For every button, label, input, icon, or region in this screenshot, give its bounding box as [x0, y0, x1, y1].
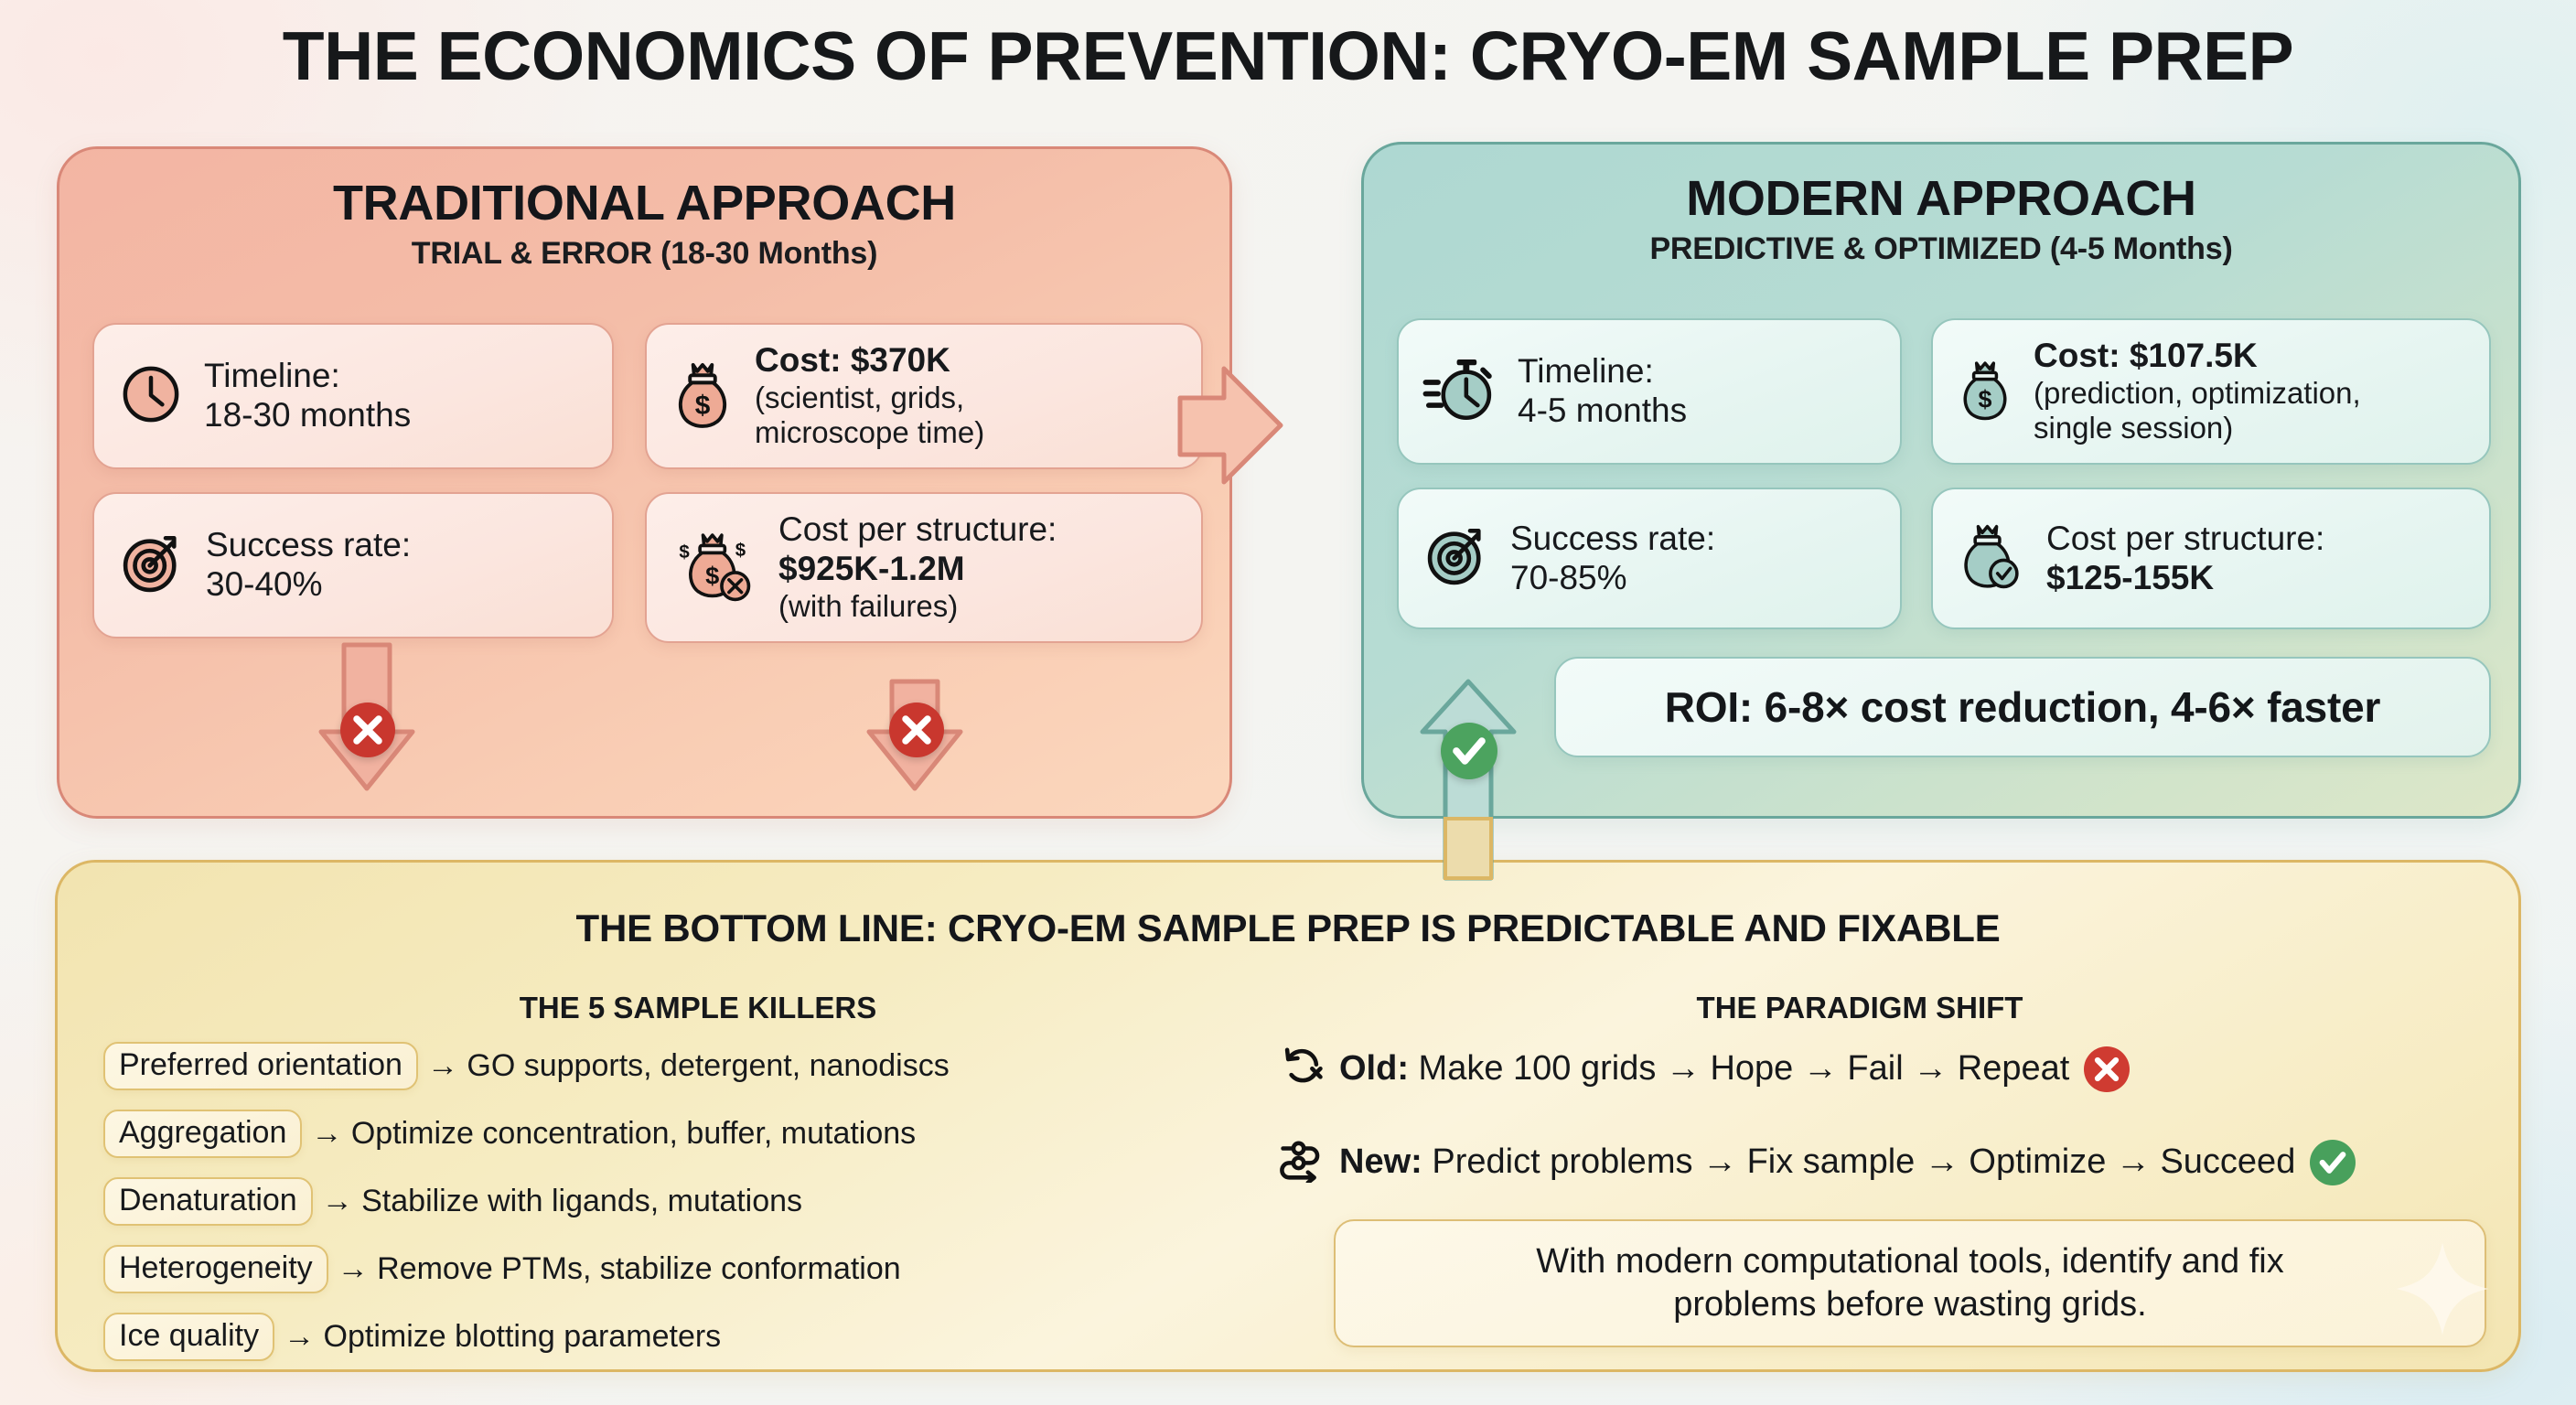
traditional-success-line2: 30-40%: [206, 565, 411, 605]
paradigm-column-heading: THE PARADIGM SHIFT: [1357, 991, 2363, 1025]
svg-text:$: $: [735, 541, 746, 561]
modern-cost-card: $ Cost: $107.5K (prediction, optimizatio…: [1931, 318, 2491, 465]
traditional-cps-line1: Cost per structure:: [778, 510, 1057, 550]
modern-cost-line3: single session): [2034, 411, 2361, 445]
svg-text:$: $: [1979, 385, 1992, 413]
modern-cps-text: Cost per structure: $125-155K: [2046, 520, 2324, 598]
killer-chip: Ice quality: [103, 1313, 274, 1361]
stopwatch-icon: [1422, 355, 1497, 429]
killer-row: Aggregation → Optimize concentration, bu…: [103, 1110, 916, 1158]
target-icon: [1422, 522, 1490, 595]
final-callout-text: With modern computational tools, identif…: [1536, 1240, 2283, 1327]
traditional-timeline-card: Timeline: 18-30 months: [92, 323, 614, 469]
svg-text:$: $: [679, 542, 690, 563]
roi-banner: ROI: 6-8× cost reduction, 4-6× faster: [1554, 657, 2491, 757]
killer-row: Denaturation → Stabilize with ligands, m…: [103, 1177, 802, 1226]
modern-cost-line1: Cost: $107.5K: [2034, 337, 2361, 376]
modern-panel-subheading: PREDICTIVE & OPTIMIZED (4-5 Months): [1364, 231, 2518, 267]
traditional-panel-subheading: TRIAL & ERROR (18-30 Months): [59, 236, 1229, 272]
sparkle-icon: [2392, 1239, 2493, 1344]
killer-chip: Preferred orientation: [103, 1042, 418, 1090]
killer-fix: → Stabilize with ligands, mutations: [322, 1184, 802, 1219]
traditional-cost-text: Cost: $370K (scientist, grids, microscop…: [755, 341, 984, 450]
svg-text:$: $: [695, 390, 711, 420]
modern-success-card: Success rate: 70-85%: [1397, 488, 1902, 629]
traditional-cost-line3: microscope time): [755, 415, 984, 450]
roi-text: ROI: 6-8× cost reduction, 4-6× faster: [1665, 682, 2381, 732]
paradigm-old-text: Old: Make 100 grids → Hope → Fail → Repe…: [1339, 1049, 2069, 1089]
modern-timeline-line1: Timeline:: [1518, 352, 1687, 391]
money-bag-icon: $: [671, 359, 735, 434]
svg-text:$: $: [705, 561, 719, 589]
traditional-cps-text: Cost per structure: $925K-1.2M (with fai…: [778, 510, 1057, 624]
modern-panel-heading: MODERN APPROACH: [1364, 170, 2518, 227]
traditional-timeline-line2: 18-30 months: [204, 396, 411, 435]
traditional-cost-line2: (scientist, grids,: [755, 381, 984, 415]
traditional-approach-panel: TRADITIONAL APPROACH TRIAL & ERROR (18-3…: [57, 146, 1232, 819]
traditional-success-line1: Success rate:: [206, 526, 411, 565]
traditional-cost-line1: Cost: $370K: [755, 341, 984, 381]
killer-row: Ice quality → Optimize blotting paramete…: [103, 1313, 721, 1361]
final-callout-box: With modern computational tools, identif…: [1334, 1219, 2486, 1347]
killer-fix: → Optimize blotting parameters: [284, 1319, 721, 1355]
killers-column-heading: THE 5 SAMPLE KILLERS: [204, 991, 1192, 1025]
money-bag-icon: $: [1957, 356, 2013, 428]
target-icon: [118, 530, 186, 602]
traditional-cps-line3: (with failures): [778, 589, 1057, 624]
killer-fix: → Optimize concentration, buffer, mutati…: [311, 1116, 916, 1152]
modern-cost-text: Cost: $107.5K (prediction, optimization,…: [2034, 337, 2361, 445]
fail-badge-2-icon: [889, 702, 944, 757]
paradigm-new-steps: Predict problems → Fix sample → Optimize…: [1432, 1142, 2295, 1181]
killer-chip: Heterogeneity: [103, 1245, 328, 1293]
traditional-cost-card: $ Cost: $370K (scientist, grids, microsc…: [645, 323, 1203, 469]
bottom-line-panel: THE BOTTOM LINE: CRYO-EM SAMPLE PREP IS …: [55, 860, 2521, 1372]
traditional-success-card: Success rate: 30-40%: [92, 492, 614, 638]
killer-fix: → Remove PTMs, stabilize conformation: [338, 1251, 901, 1287]
modern-approach-panel: MODERN APPROACH PREDICTIVE & OPTIMIZED (…: [1361, 142, 2521, 819]
page-title: THE ECONOMICS OF PREVENTION: CRYO-EM SAM…: [0, 16, 2576, 95]
paradigm-new-row: New: Predict problems → Fix sample → Opt…: [1279, 1137, 2356, 1187]
killer-row: Preferred orientation → GO supports, det…: [103, 1042, 950, 1090]
modern-success-line2: 70-85%: [1510, 559, 1715, 598]
clock-icon: [118, 361, 184, 432]
modern-timeline-text: Timeline: 4-5 months: [1518, 352, 1687, 431]
paradigm-old-label: Old:: [1339, 1049, 1409, 1088]
modern-cost-per-structure-card: Cost per structure: $125-155K: [1931, 488, 2491, 629]
fail-badge-1-icon: [340, 702, 395, 757]
traditional-cost-per-structure-card: $ $ $ Cost per structure: $925K-1.2M (wi…: [645, 492, 1203, 643]
repeat-fail-icon: [1279, 1044, 1325, 1094]
infographic-root: THE ECONOMICS OF PREVENTION: CRYO-EM SAM…: [0, 0, 2576, 1405]
traditional-panel-heading: TRADITIONAL APPROACH: [59, 175, 1229, 231]
traditional-timeline-text: Timeline: 18-30 months: [204, 357, 411, 435]
killer-row: Heterogeneity → Remove PTMs, stabilize c…: [103, 1245, 901, 1293]
modern-cps-line1: Cost per structure:: [2046, 520, 2324, 559]
success-badge-icon: [2310, 1140, 2356, 1185]
killer-fix: → GO supports, detergent, nanodiscs: [427, 1048, 950, 1084]
killer-chip: Denaturation: [103, 1177, 313, 1226]
modern-timeline-card: Timeline: 4-5 months: [1397, 318, 1902, 465]
fail-badge-icon: [2084, 1046, 2130, 1092]
modern-timeline-line2: 4-5 months: [1518, 391, 1687, 431]
traditional-cps-line2: $925K-1.2M: [778, 550, 1057, 589]
modern-success-text: Success rate: 70-85%: [1510, 520, 1715, 598]
paradigm-old-row: Old: Make 100 grids → Hope → Fail → Repe…: [1279, 1044, 2130, 1094]
traditional-timeline-line1: Timeline:: [204, 357, 411, 396]
modern-cost-line2: (prediction, optimization,: [2034, 376, 2361, 411]
money-bag-check-icon: [1957, 520, 2026, 596]
paradigm-new-label: New:: [1339, 1142, 1422, 1181]
final-callout-line1: With modern computational tools, identif…: [1536, 1240, 2283, 1284]
killer-chip: Aggregation: [103, 1110, 302, 1158]
bottom-panel-heading: THE BOTTOM LINE: CRYO-EM SAMPLE PREP IS …: [58, 906, 2518, 950]
success-badge-main-icon: [1441, 723, 1497, 779]
final-callout-line2: problems before wasting grids.: [1536, 1283, 2283, 1327]
workflow-icon: [1279, 1137, 1325, 1187]
modern-cps-line2: $125-155K: [2046, 559, 2324, 598]
paradigm-old-steps: Make 100 grids → Hope → Fail → Repeat: [1419, 1049, 2070, 1088]
modern-success-line1: Success rate:: [1510, 520, 1715, 559]
traditional-success-text: Success rate: 30-40%: [206, 526, 411, 605]
money-bag-fail-icon: $ $ $: [671, 527, 758, 608]
paradigm-new-text: New: Predict problems → Fix sample → Opt…: [1339, 1142, 2295, 1182]
